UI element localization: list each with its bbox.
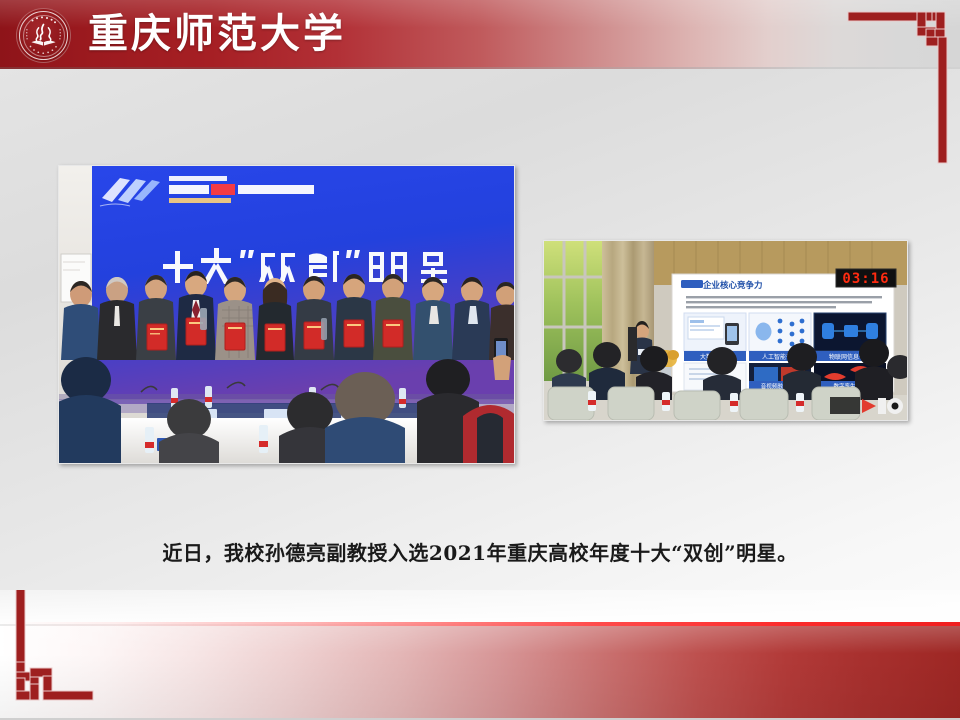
university-name: 重庆师范大学 bbox=[88, 7, 338, 61]
header-underline bbox=[0, 67, 960, 69]
university-name-text: 重庆师范大学 bbox=[88, 7, 338, 61]
photo-award-ceremony bbox=[58, 165, 515, 464]
slide-canvas: 重庆师范大学 bbox=[0, 0, 960, 720]
corner-ornament-bottom-left-icon bbox=[0, 590, 150, 720]
corner-ornament-top-right-icon bbox=[820, 0, 960, 180]
svg-text:03:16: 03:16 bbox=[842, 271, 889, 287]
university-emblem-icon bbox=[16, 8, 71, 63]
slide-caption: 近日，我校孙德亮副教授入选2021年重庆高校年度十大“双创”明星。 bbox=[0, 537, 960, 566]
svg-text:企业核心竞争力: 企业核心竞争力 bbox=[702, 280, 763, 291]
photo-presentation-room: 企业核心竞争力 大数据平台 bbox=[543, 240, 908, 421]
